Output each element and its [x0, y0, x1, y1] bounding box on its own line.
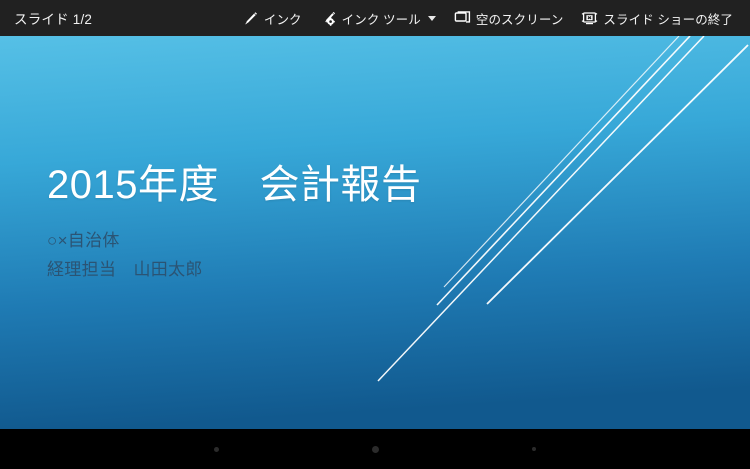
toolbar-actions: インク — [233, 0, 750, 36]
ink-button-label: インク — [264, 9, 302, 28]
pen-icon — [242, 10, 259, 27]
end-slideshow-icon — [581, 10, 598, 27]
blank-screen-button[interactable]: 空のスクリーン — [445, 0, 573, 36]
ink-tools-button[interactable]: インク ツール — [311, 0, 445, 36]
slideshow-window: スライド 1/2 インク — [0, 0, 750, 469]
chevron-down-icon[interactable] — [428, 16, 436, 21]
end-slideshow-button[interactable]: スライド ショーの終了 — [572, 0, 742, 36]
back-dot-icon[interactable] — [214, 447, 219, 452]
slide-canvas[interactable]: 2015年度 会計報告 ○×自治体 経理担当 山田太郎 — [0, 36, 750, 429]
end-slideshow-button-label: スライド ショーの終了 — [603, 9, 733, 28]
blank-screen-icon — [454, 10, 471, 27]
slide-subtitle-line-2: 経理担当 山田太郎 — [47, 255, 607, 284]
pen-gear-icon — [320, 10, 337, 27]
blank-screen-button-label: 空のスクリーン — [476, 9, 564, 28]
slide-title: 2015年度 会計報告 — [47, 160, 607, 210]
home-dot-icon[interactable] — [372, 446, 379, 453]
recent-apps-dot-icon[interactable] — [532, 447, 536, 451]
ink-button[interactable]: インク — [233, 0, 311, 36]
ink-tools-button-label: インク ツール — [342, 9, 421, 28]
android-navigation-bar — [0, 429, 750, 469]
slide-subtitle-line-1: ○×自治体 — [47, 226, 607, 255]
slide-counter: スライド 1/2 — [14, 8, 92, 28]
slideshow-toolbar: スライド 1/2 インク — [0, 0, 750, 36]
slide-text-block: 2015年度 会計報告 ○×自治体 経理担当 山田太郎 — [47, 160, 607, 284]
